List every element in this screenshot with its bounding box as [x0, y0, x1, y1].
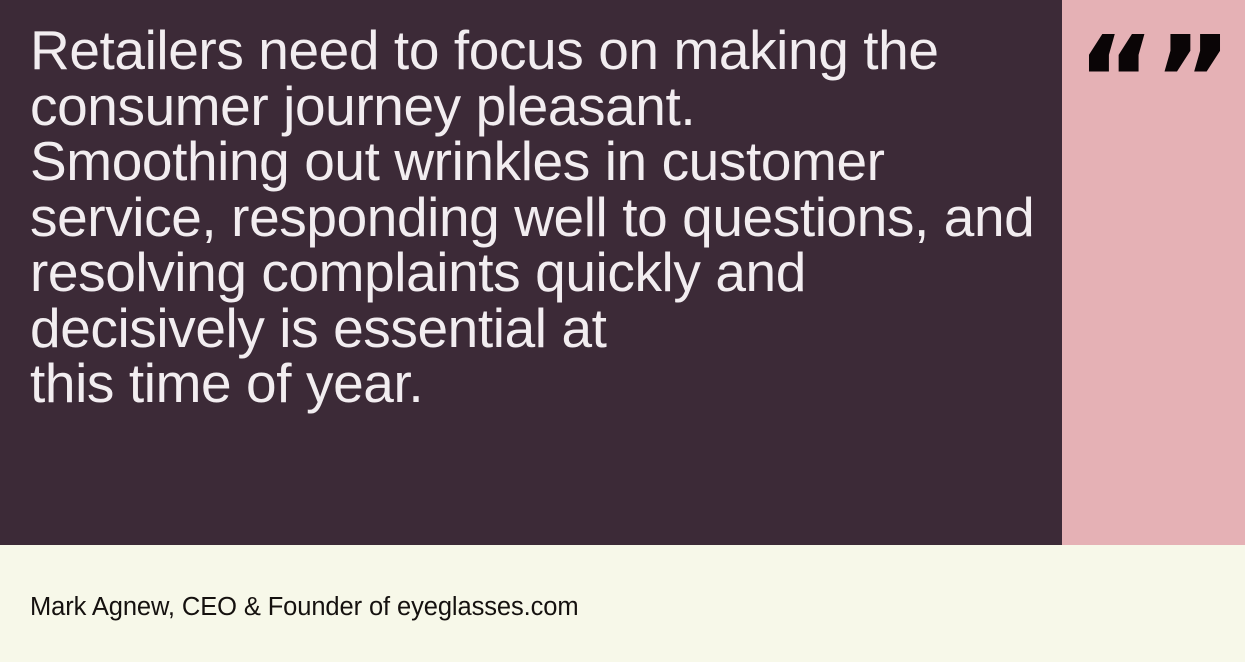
attribution-text: Mark Agnew, CEO & Founder of eyeglasses.… — [30, 592, 578, 622]
quote-panel: Retailers need to focus on making the co… — [0, 0, 1062, 545]
accent-panel: “” — [1062, 0, 1245, 545]
quote-slide: Retailers need to focus on making the co… — [0, 0, 1245, 662]
quote-text: Retailers need to focus on making the co… — [30, 23, 1040, 412]
attribution-bar: Mark Agnew, CEO & Founder of eyeglasses.… — [0, 545, 1245, 662]
double-quotation-mark-icon: “” — [1062, 0, 1245, 142]
